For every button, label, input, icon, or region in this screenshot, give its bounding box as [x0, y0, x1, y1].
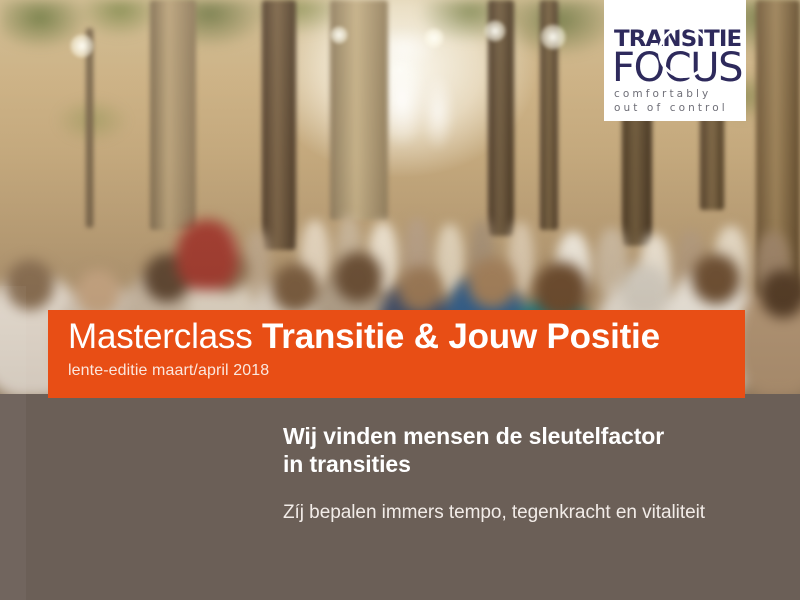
slide-subtitle: lente-editie maart/april 2018 — [68, 362, 269, 380]
slide-title: Masterclass Transitie & Jouw Positie — [68, 314, 660, 360]
logo-tagline-line-2: out of control — [614, 102, 728, 114]
crowd-head — [620, 264, 670, 316]
headline-block: Wij vinden mensen de sleutelfactor in tr… — [283, 422, 763, 478]
lamp-globe — [70, 34, 94, 58]
crowd-head — [272, 264, 318, 312]
logo-wordmark-focus: FOCUS — [612, 45, 742, 91]
crowd-figure — [176, 220, 238, 290]
crowd-head — [334, 252, 382, 302]
crowd-head — [692, 254, 740, 304]
slide-title-light: Masterclass — [68, 317, 253, 356]
crowd-head — [468, 258, 516, 308]
crowd-head — [398, 266, 442, 312]
logo-tagline-line-1: comfortably — [614, 88, 711, 100]
headline-line-1: Wij vinden mensen de sleutelfactor — [283, 422, 763, 450]
crowd-head — [760, 270, 800, 318]
presentation-slide: TRANSITIE FOCUS comfortably out of contr… — [0, 0, 800, 600]
lamp-globe — [424, 28, 444, 48]
tagline-text: Zíj bepalen immers tempo, tegenkracht en… — [283, 501, 763, 525]
lamp-globe — [484, 20, 506, 42]
lamp-globe — [540, 24, 566, 50]
title-banner: Masterclass Transitie & Jouw Positie len… — [48, 310, 745, 398]
brand-logo[interactable]: TRANSITIE FOCUS comfortably out of contr… — [604, 0, 746, 121]
headline-line-2: in transities — [283, 450, 763, 478]
crowd-head — [6, 260, 54, 310]
slide-title-bold: Transitie & Jouw Positie — [262, 317, 660, 356]
lamp-globe — [330, 26, 348, 44]
